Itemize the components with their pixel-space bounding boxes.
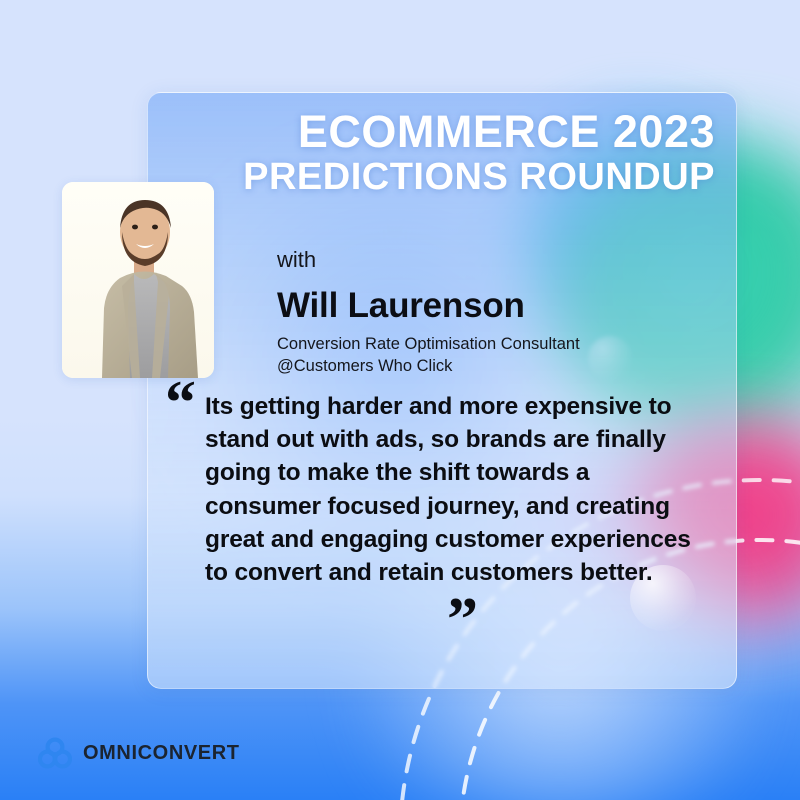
- brand-name: OMNICONVERT: [83, 742, 240, 765]
- page-title-secondary: PREDICTIONS ROUNDUP: [147, 156, 715, 199]
- title-block: ECOMMERCE 2023 PREDICTIONS ROUNDUP: [147, 108, 737, 198]
- speaker-handle: @Customers Who Click: [277, 356, 452, 378]
- with-label: with: [277, 247, 316, 273]
- brand-logo[interactable]: OMNICONVERT: [38, 737, 240, 769]
- quote-close-mark: ”: [447, 589, 478, 651]
- social-graphic-canvas: ECOMMERCE 2023 PREDICTIONS ROUNDUP: [0, 0, 800, 800]
- three-rings-logo-icon: [38, 737, 72, 769]
- quote-open-mark: “: [165, 372, 196, 434]
- speaker-role: Conversion Rate Optimisation Consultant: [277, 334, 580, 356]
- quote-text: Its getting harder and more expensive to…: [205, 390, 705, 589]
- speaker-name: Will Laurenson: [277, 286, 525, 326]
- page-title-primary: ECOMMERCE 2023: [147, 108, 715, 156]
- speaker-portrait: [62, 182, 214, 378]
